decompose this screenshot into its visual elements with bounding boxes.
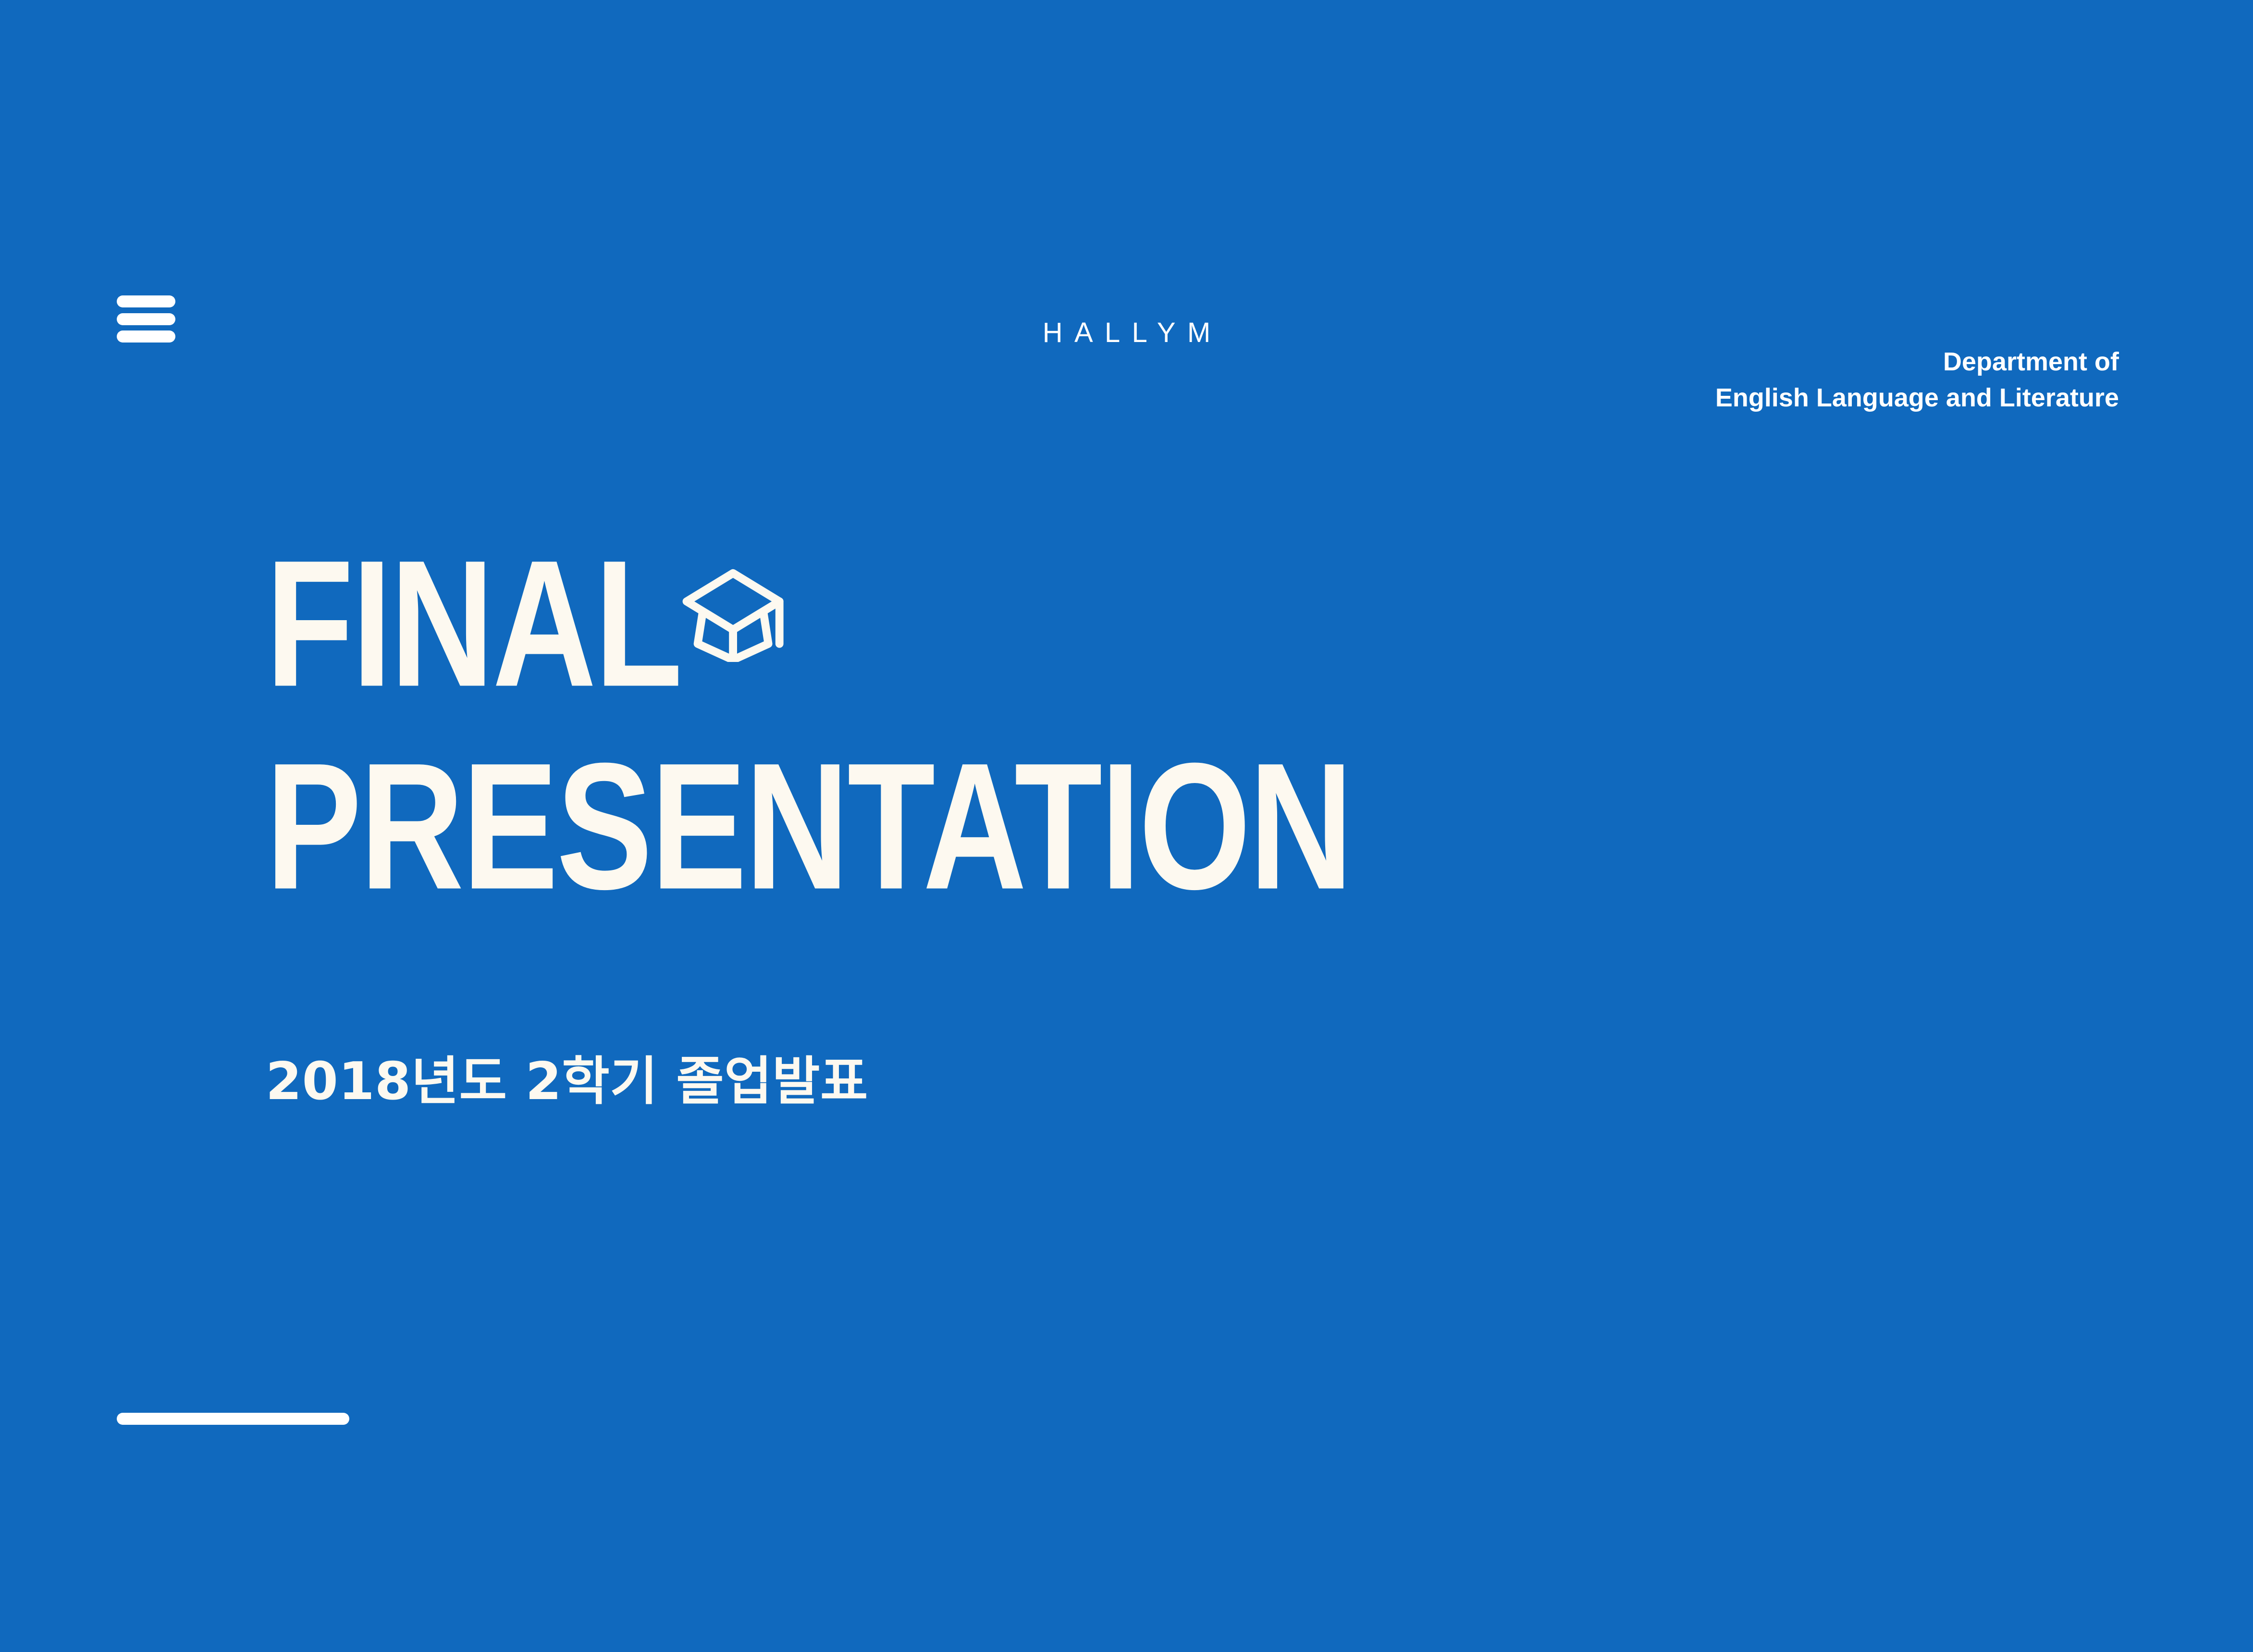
page-title-line-1: FINAL <box>266 549 681 700</box>
title-line-1-row: FINAL <box>266 552 2044 697</box>
bottom-rule <box>117 1413 349 1425</box>
page-title-line-2: PRESENTATION <box>266 751 1351 903</box>
subtitle: 2018년도 2학기 졸업발표 <box>266 1056 868 1108</box>
brand-name: HALLYM <box>0 319 2253 347</box>
presentation-title-slide: HALLYM Department of English Language an… <box>0 0 2253 1652</box>
department-label: Department of English Language and Liter… <box>1715 344 2119 416</box>
graduation-cap-icon <box>675 561 800 662</box>
title-line-2-row: PRESENTATION <box>266 755 2044 899</box>
menu-bar-top <box>117 295 175 307</box>
title-block: FINAL PRESENTATION <box>266 552 2044 899</box>
department-line-2: English Language and Literature <box>1715 380 2119 416</box>
department-line-1: Department of <box>1715 344 2119 380</box>
